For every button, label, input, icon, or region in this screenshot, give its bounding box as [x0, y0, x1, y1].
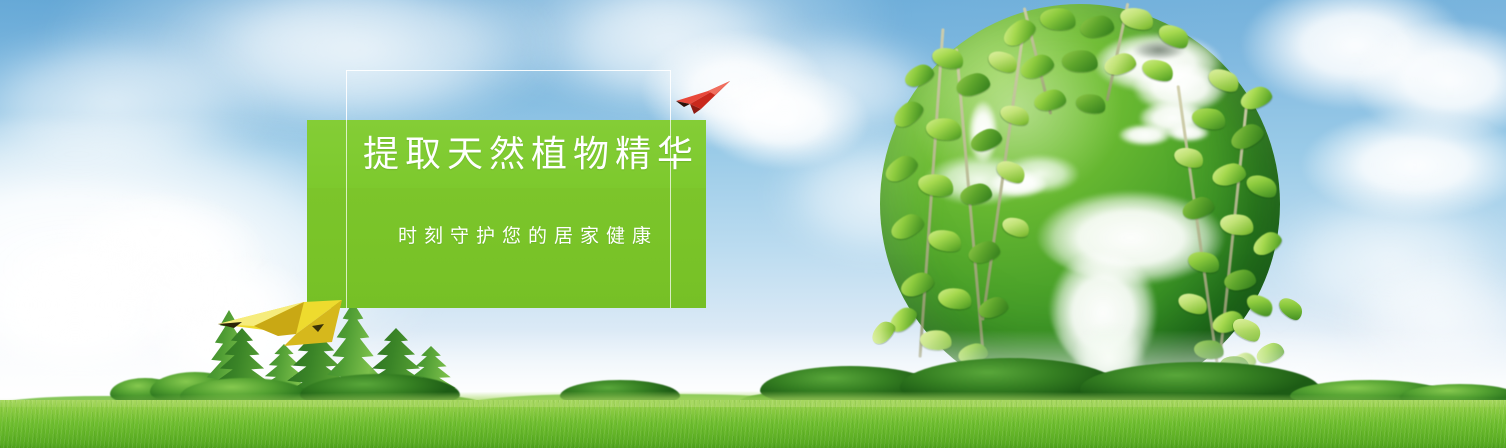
leaf — [897, 269, 936, 300]
leaf — [1039, 6, 1078, 33]
leaf — [930, 44, 967, 73]
leaf — [1155, 19, 1193, 52]
frame-line-left-overlay — [346, 120, 347, 308]
leaf — [924, 115, 963, 143]
subtitle-text: 时刻守护您的居家健康 — [398, 223, 698, 251]
frame-line-right-overlay — [670, 120, 671, 308]
leaf — [1186, 248, 1223, 277]
leaf — [1190, 104, 1228, 133]
leaf — [1243, 290, 1276, 321]
leaf — [959, 182, 993, 206]
leaf — [1218, 211, 1256, 239]
leaf — [916, 170, 956, 200]
leaf — [1249, 228, 1284, 259]
leaf — [968, 126, 1005, 155]
leaf — [1079, 14, 1115, 38]
leaf — [1210, 161, 1247, 188]
frame-line-top — [346, 70, 671, 71]
leaf — [926, 226, 964, 256]
leaf — [1238, 84, 1275, 113]
headline-text: 提取天然植物精华 — [363, 128, 703, 180]
grass-texture — [0, 400, 1506, 448]
leaf — [1102, 51, 1137, 77]
leaf — [1243, 170, 1281, 202]
leaf — [902, 61, 937, 90]
leaf — [1018, 51, 1057, 81]
promo-text-panel: 提取天然植物精华 时刻守护您的居家健康 — [307, 120, 706, 308]
red-paper-plane-icon — [668, 78, 734, 118]
leaf — [1033, 88, 1067, 112]
leaf — [1074, 91, 1108, 117]
leaf — [993, 156, 1028, 187]
leaf — [1061, 48, 1099, 74]
leaf — [936, 285, 974, 313]
leaf — [881, 151, 921, 186]
yellow-paper-plane-icon — [212, 296, 344, 356]
leaf — [1180, 194, 1216, 222]
leaf — [1000, 213, 1033, 241]
leaf — [1227, 120, 1267, 153]
leaf — [887, 210, 927, 243]
leaf — [889, 97, 927, 131]
leaf — [1172, 143, 1207, 171]
hero-banner: 提取天然植物精华 时刻守护您的居家健康 — [0, 0, 1506, 448]
